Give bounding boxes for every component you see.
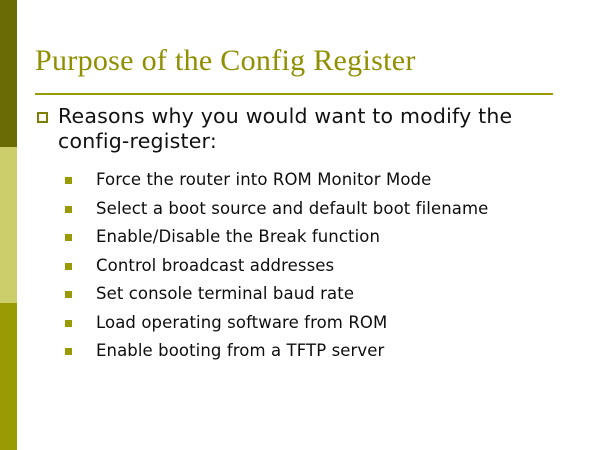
level1-bullet-item: Reasons why you would want to modify the…: [36, 104, 558, 154]
list-item: Set console terminal baud rate: [58, 280, 566, 309]
solid-square-bullet-icon: [65, 177, 72, 184]
level2-bullet-text: Enable booting from a TFTP server: [96, 341, 384, 360]
solid-square-bullet-icon: [65, 206, 72, 213]
level2-bullet-text: Enable/Disable the Break function: [96, 227, 380, 246]
level2-bullet-text: Control broadcast addresses: [96, 256, 334, 275]
slide-title: Purpose of the Config Register: [35, 44, 555, 78]
solid-square-bullet-icon: [65, 320, 72, 327]
list-item: Select a boot source and default boot fi…: [58, 195, 552, 224]
solid-square-bullet-icon: [65, 348, 72, 355]
slide: Purpose of the Config Register Reasons w…: [0, 0, 600, 450]
solid-square-bullet-icon: [65, 263, 72, 270]
slide-body: Reasons why you would want to modify the…: [0, 104, 600, 366]
title-underline-rule: [35, 93, 553, 95]
level2-bullet-text: Force the router into ROM Monitor Mode: [96, 170, 431, 189]
list-item: Control broadcast addresses: [58, 252, 566, 281]
list-item: Enable/Disable the Break function: [58, 223, 566, 252]
solid-square-bullet-icon: [65, 234, 72, 241]
level2-bullet-text: Select a boot source and default boot fi…: [96, 199, 488, 218]
hollow-square-bullet-icon: [37, 112, 48, 123]
list-item: Load operating software from ROM: [58, 309, 566, 338]
solid-square-bullet-icon: [65, 291, 72, 298]
level1-bullet-text: Reasons why you would want to modify the…: [58, 104, 512, 153]
level2-bullet-text: Load operating software from ROM: [96, 313, 387, 332]
level2-bullet-list: Force the router into ROM Monitor Mode S…: [0, 166, 600, 366]
list-item: Enable booting from a TFTP server: [58, 337, 566, 366]
list-item: Force the router into ROM Monitor Mode: [58, 166, 566, 195]
level2-bullet-text: Set console terminal baud rate: [96, 284, 354, 303]
